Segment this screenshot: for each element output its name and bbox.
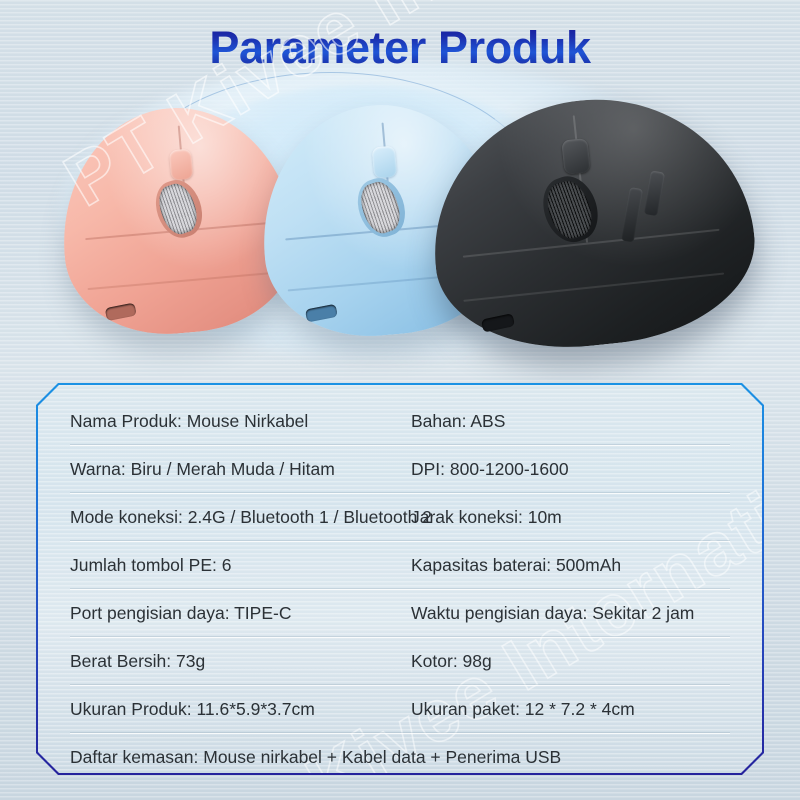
spec-cell-right: Kapasitas baterai: 500mAh — [411, 555, 762, 576]
spec-cell-left: Warna: Biru / Merah Muda / Hitam — [38, 459, 411, 480]
table-row: Berat Bersih: 73g Kotor: 98g — [38, 637, 762, 685]
spec-cell-left: Jumlah tombol PE: 6 — [38, 555, 411, 576]
table-row: Jumlah tombol PE: 6 Kapasitas baterai: 5… — [38, 541, 762, 589]
spec-cell-right: Jarak koneksi: 10m — [411, 507, 762, 528]
mouse-dpi-button-pink — [169, 149, 194, 181]
spec-cell-left: Mode koneksi: 2.4G / Bluetooth 1 / Bluet… — [38, 507, 411, 528]
table-row: Mode koneksi: 2.4G / Bluetooth 1 / Bluet… — [38, 493, 762, 541]
product-spec-page: Parameter Produk PT Kivee Internat — [0, 0, 800, 800]
specification-panel: PT Kivee International Trade Nama Produk… — [36, 383, 764, 775]
table-row: Warna: Biru / Merah Muda / Hitam DPI: 80… — [38, 445, 762, 493]
panel-surface: PT Kivee International Trade Nama Produk… — [38, 385, 762, 773]
mouse-dpi-button-black — [561, 138, 590, 175]
table-row-full: Daftar kemasan: Mouse nirkabel + Kabel d… — [38, 733, 762, 773]
spec-cell-left: Ukuran Produk: 11.6*5.9*3.7cm — [38, 699, 411, 720]
spec-cell-right: Kotor: 98g — [411, 651, 762, 672]
spec-cell-right: Ukuran paket: 12 * 7.2 * 4cm — [411, 699, 762, 720]
spec-cell-left: Berat Bersih: 73g — [38, 651, 411, 672]
mouse-dpi-button-blue — [372, 146, 398, 179]
page-title: Parameter Produk — [0, 22, 800, 74]
spec-cell-left: Port pengisian daya: TIPE-C — [38, 603, 411, 624]
spec-cell-right: Waktu pengisian daya: Sekitar 2 jam — [411, 603, 762, 624]
spec-table: Nama Produk: Mouse Nirkabel Bahan: ABS W… — [38, 397, 762, 773]
table-row: Port pengisian daya: TIPE-C Waktu pengis… — [38, 589, 762, 637]
spec-cell-left: Nama Produk: Mouse Nirkabel — [38, 411, 411, 432]
spec-cell-packing-list: Daftar kemasan: Mouse nirkabel + Kabel d… — [38, 747, 561, 768]
table-row: Ukuran Produk: 11.6*5.9*3.7cm Ukuran pak… — [38, 685, 762, 733]
table-row: Nama Produk: Mouse Nirkabel Bahan: ABS — [38, 397, 762, 445]
product-image-mouse-black — [420, 84, 764, 361]
spec-cell-right: DPI: 800-1200-1600 — [411, 459, 762, 480]
spec-cell-right: Bahan: ABS — [411, 411, 762, 432]
